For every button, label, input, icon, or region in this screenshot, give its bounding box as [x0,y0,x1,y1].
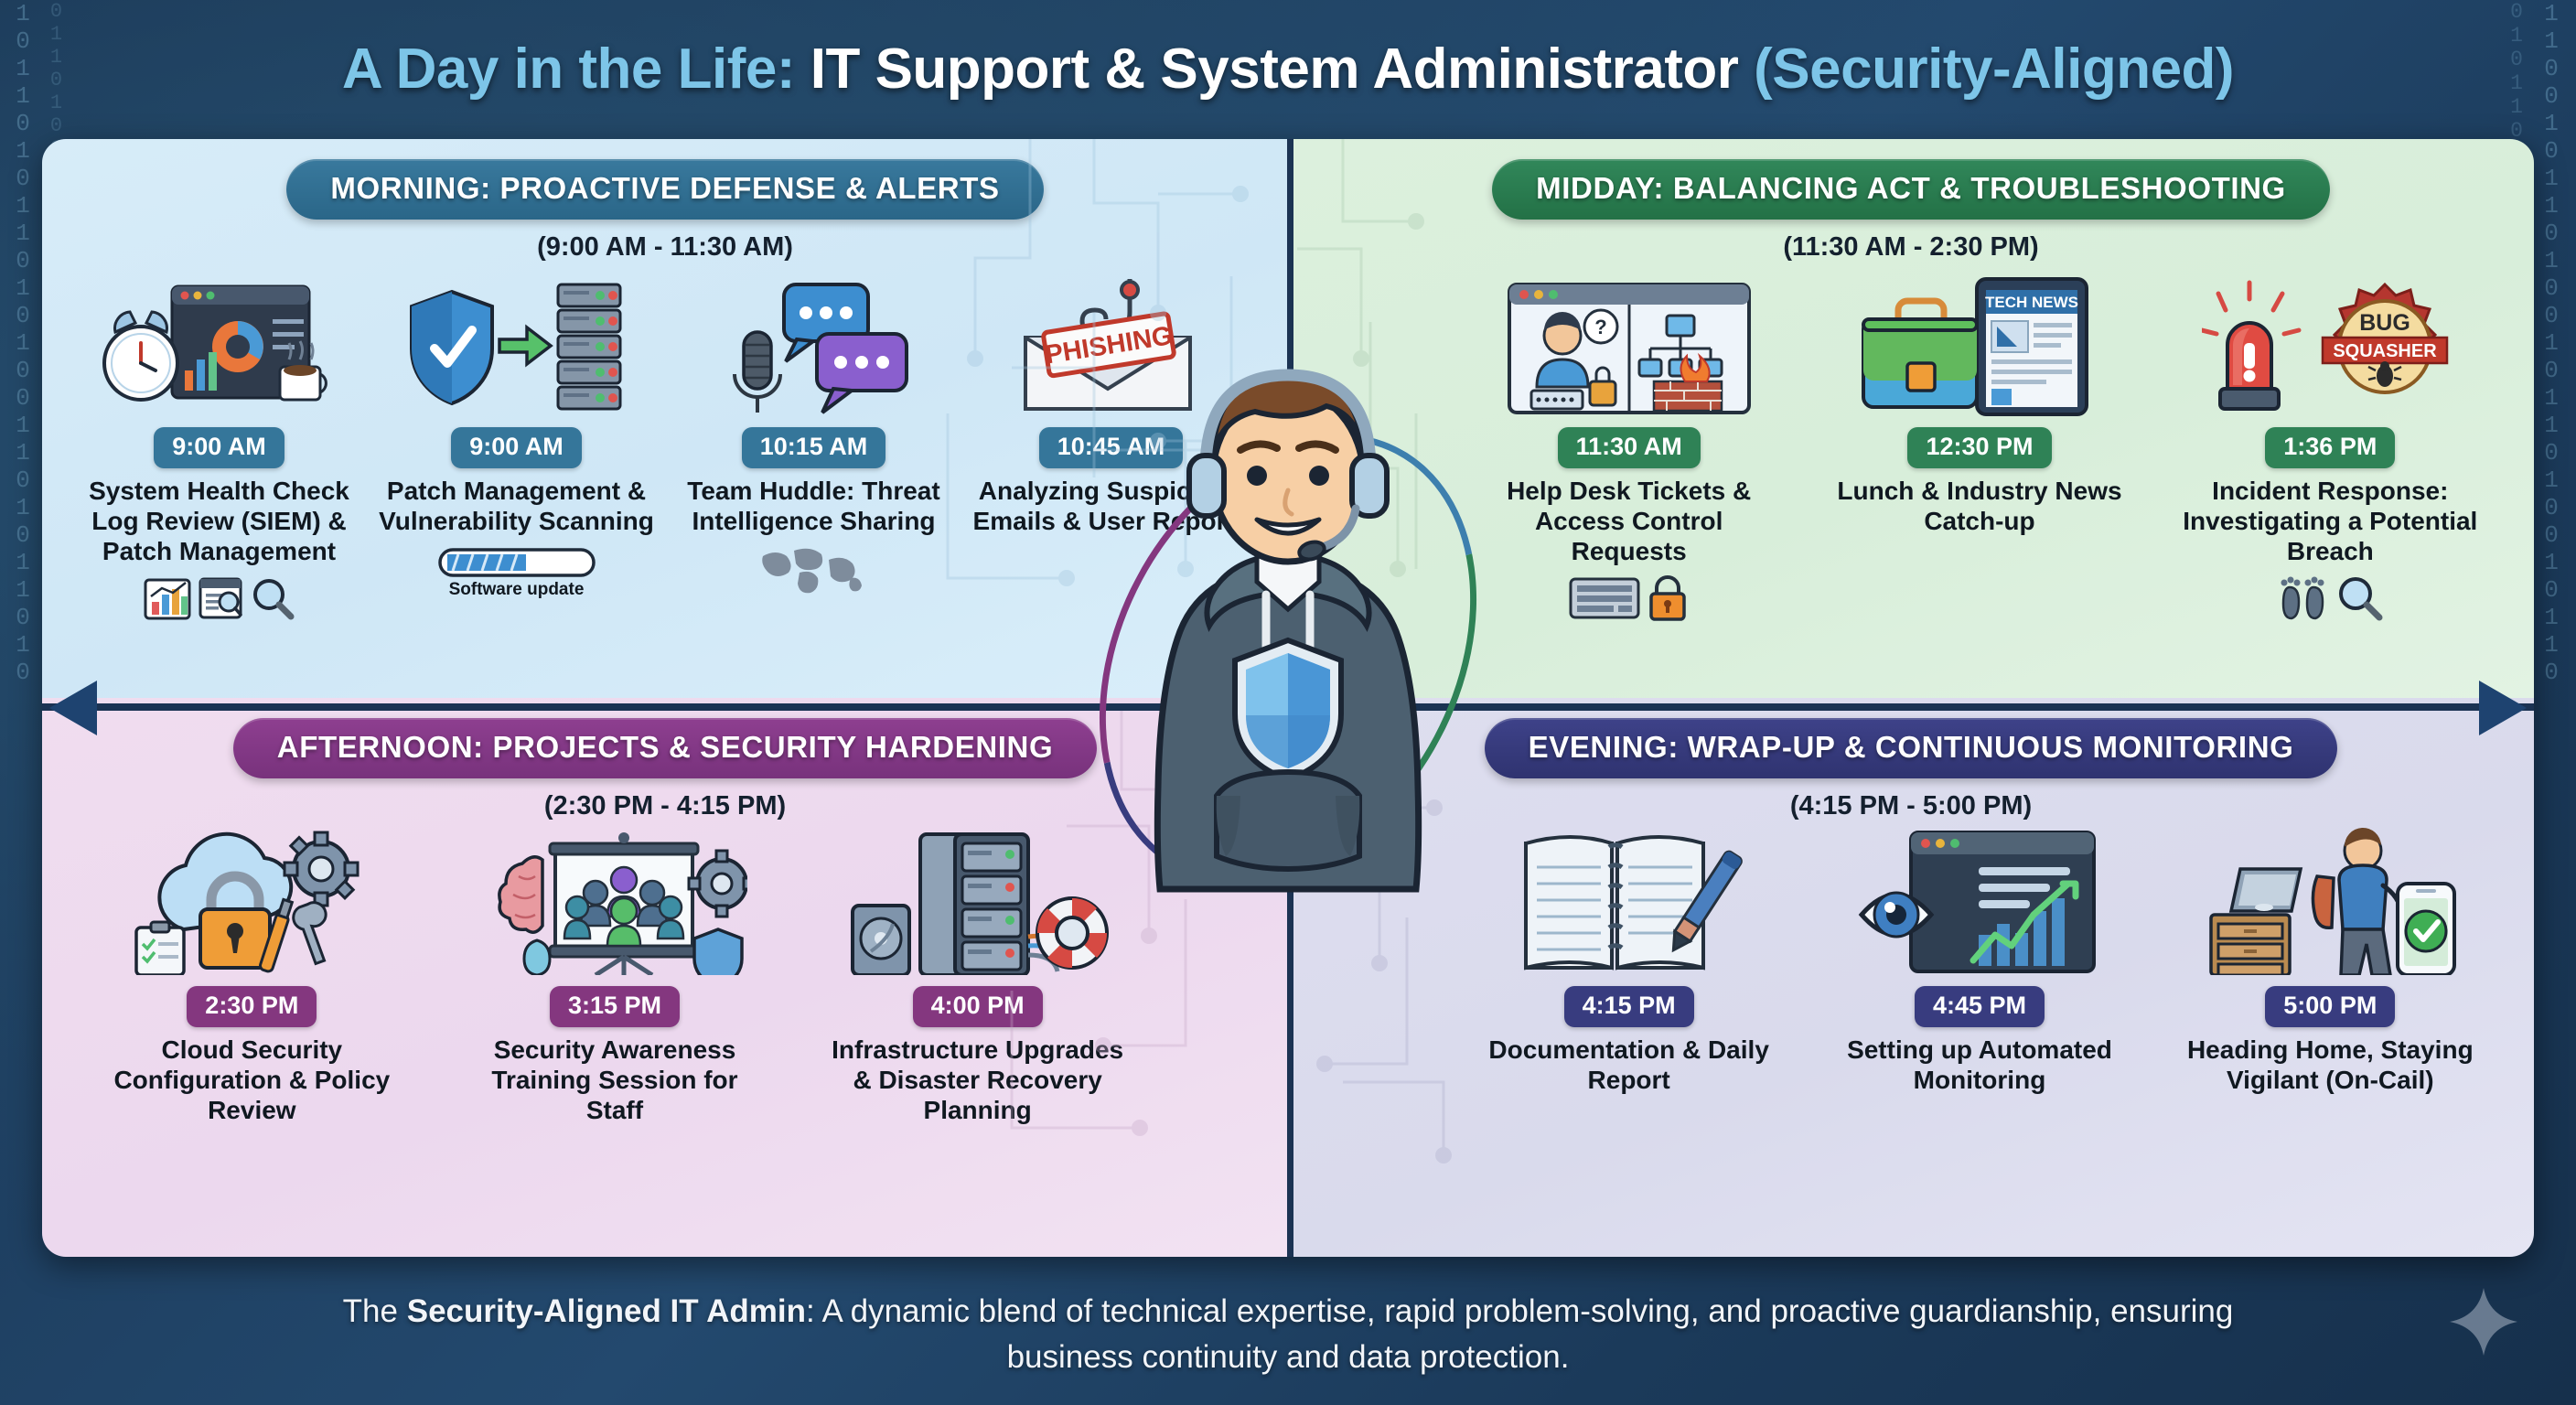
item-caption: Heading Home, Staying Vigilant (On-Cail) [2179,1035,2481,1096]
quadrant-header-morning: MORNING: PROACTIVE DEFENSE & ALERTS [286,159,1043,220]
timeline-arrow-left-icon [49,681,97,735]
page-title-bar: A Day in the Life: IT Support & System A… [0,0,2576,137]
security-training-presentation-icon [482,827,747,975]
alert-siren-bug-badge-icon: BUG SQUASHER [2202,277,2458,416]
magnifier-icon [2336,574,2384,622]
helpdesk-ticket-window-icon: ? [1506,279,1753,416]
item-artwork [2202,836,2458,975]
eye-monitoring-dashboard-icon [1858,827,2100,975]
timeline-item[interactable]: 4:45 PM Setting up Automated Monitoring [1818,836,2142,1154]
progress-bar-icon [438,547,596,578]
quadrant-header-afternoon: AFTERNOON: PROJECTS & SECURITY HARDENING [233,718,1097,778]
timeline-item[interactable]: BUG SQUASHER 1:36 PM Incident Response: … [2168,277,2493,625]
item-subicons: Software update [438,542,596,605]
notebook-pen-icon [1515,827,1744,975]
infrastructure-disaster-recovery-icon [845,827,1111,975]
cloud-security-config-icon [123,827,380,975]
footer-lead: The [343,1293,407,1329]
center-figure-wrap [1078,338,1498,979]
item-time-badge: 12:30 PM [1907,427,2051,468]
item-time-badge: 4:45 PM [1915,986,2045,1027]
item-caption: Lunch & Industry News Catch-up [1829,477,2131,537]
bar-chart-icon [144,576,191,620]
shield-check-server-icon [404,279,628,416]
item-time-badge: 5:00 PM [2265,986,2395,1027]
heading-home-on-call-icon [2202,827,2458,975]
item-time-badge: 9:00 AM [451,427,582,468]
item-caption: System Health Check Log Review (SIEM) & … [73,477,365,566]
item-artwork [1858,836,2100,975]
timeline-arrow-right-icon [2479,681,2527,735]
item-caption: Patch Management & Vulnerability Scannin… [370,477,662,537]
item-artwork: TECH NEWS [1858,277,2100,416]
item-caption: Incident Response: Investigating a Poten… [2179,477,2481,566]
item-caption: Setting up Automated Monitoring [1829,1035,2131,1096]
item-caption: Security Awareness Training Session for … [464,1035,766,1125]
item-caption: Documentation & Daily Report [1478,1035,1780,1096]
tablet-screen-label: TECH NEWS [1985,294,2078,311]
binary-decoration-left-1: 1011010110101001101011010 [4,0,42,1405]
binary-decoration-right-2: 1100101101001011010010110 [2532,0,2571,1405]
footer-bold-term: Security-Aligned IT Admin [407,1293,806,1329]
quadrant-header-evening: EVENING: WRAP-UP & CONTINUOUS MONITORING [1485,718,2338,778]
item-caption: Help Desk Tickets & Access Control Reque… [1478,477,1780,566]
item-caption: Infrastructure Upgrades & Disaster Recov… [827,1035,1129,1125]
sparkle-icon [2450,1288,2517,1356]
item-subicons [2277,572,2384,625]
orange-padlock-icon [1647,574,1689,623]
log-document-icon [198,576,243,620]
timeline-item[interactable]: TECH NEWS 12:30 PM Lunch & Industr [1818,277,2142,595]
item-artwork [101,277,338,416]
item-artwork [482,836,747,975]
svg-text:?: ? [1594,316,1606,338]
item-time-badge: 9:00 AM [154,427,284,468]
magnifier-icon [250,576,295,620]
item-time-badge: 10:15 AM [742,427,886,468]
timeline-item[interactable]: 3:15 PM Security Awareness Training Sess… [446,836,782,1184]
badge-top-label: BUG [2360,310,2411,336]
alarm-clock-dashboard-coffee-icon [101,279,338,416]
item-artwork [709,277,919,416]
quadrant-timerange-morning: (9:00 AM - 11:30 AM) [73,232,1257,263]
keyboard-icon [1569,574,1640,622]
item-time-badge: 11:30 AM [1558,427,1701,468]
item-subicons [1569,572,1689,625]
item-artwork [845,836,1111,975]
timeline-item[interactable]: 9:00 AM System Health Check Log Review (… [73,277,365,625]
item-time-badge: 2:30 PM [187,986,317,1027]
page-title: A Day in the Life: IT Support & System A… [342,37,2234,102]
footer-rest: : A dynamic blend of technical expertise… [806,1293,2233,1375]
timeline-item[interactable]: 4:15 PM Documentation & Daily Report [1466,836,1791,1154]
item-caption: Cloud Security Configuration & Policy Re… [101,1035,402,1125]
quadrant-header-midday: MIDDAY: BALANCING ACT & TROUBLESHOOTING [1492,159,2330,220]
page-title-main: IT Support & System Administrator [810,38,1739,101]
item-time-badge: 3:15 PM [550,986,680,1027]
timeline-item[interactable]: 9:00 AM Patch Management & Vulnerability… [370,277,662,605]
item-subicons [756,542,873,595]
item-time-badge: 4:15 PM [1564,986,1694,1027]
progress-sublabel: Software update [449,580,585,600]
timeline-item[interactable]: 2:30 PM Cloud Security Configuration & P… [84,836,420,1184]
item-time-badge: 4:00 PM [913,986,1043,1027]
page-title-tail: (Security-Aligned) [1754,38,2234,101]
item-artwork [404,277,628,416]
quadrant-timerange-midday: (11:30 AM - 2:30 PM) [1319,232,2503,263]
briefcase-tablet-news-icon: TECH NEWS [1858,277,2100,416]
footer-bar: The Security-Aligned IT Admin: A dynamic… [0,1264,2576,1405]
timeline-item[interactable]: 10:15 AM Team Huddle: Threat Intelligenc… [668,277,960,595]
item-subicons [144,572,295,625]
footprints-icon [2277,573,2330,624]
badge-bottom-label: SQUASHER [2334,341,2438,361]
timeline-item[interactable]: ? [1466,277,1791,625]
it-admin-avatar [1078,338,1498,979]
item-artwork [123,836,380,975]
microphone-chat-bubbles-icon [709,279,919,416]
item-caption: Team Huddle: Threat Intelligence Sharing [668,477,960,537]
world-map-icon [756,543,873,595]
footer-summary: The Security-Aligned IT Admin: A dynamic… [282,1289,2294,1379]
timeline-item[interactable]: 5:00 PM Heading Home, Staying Vigilant (… [2168,836,2493,1154]
item-artwork: BUG SQUASHER [2202,277,2458,416]
item-artwork: ? [1506,277,1753,416]
item-artwork [1515,836,1744,975]
item-time-badge: 1:36 PM [2265,427,2395,468]
page-title-lead: A Day in the Life: [342,38,795,101]
